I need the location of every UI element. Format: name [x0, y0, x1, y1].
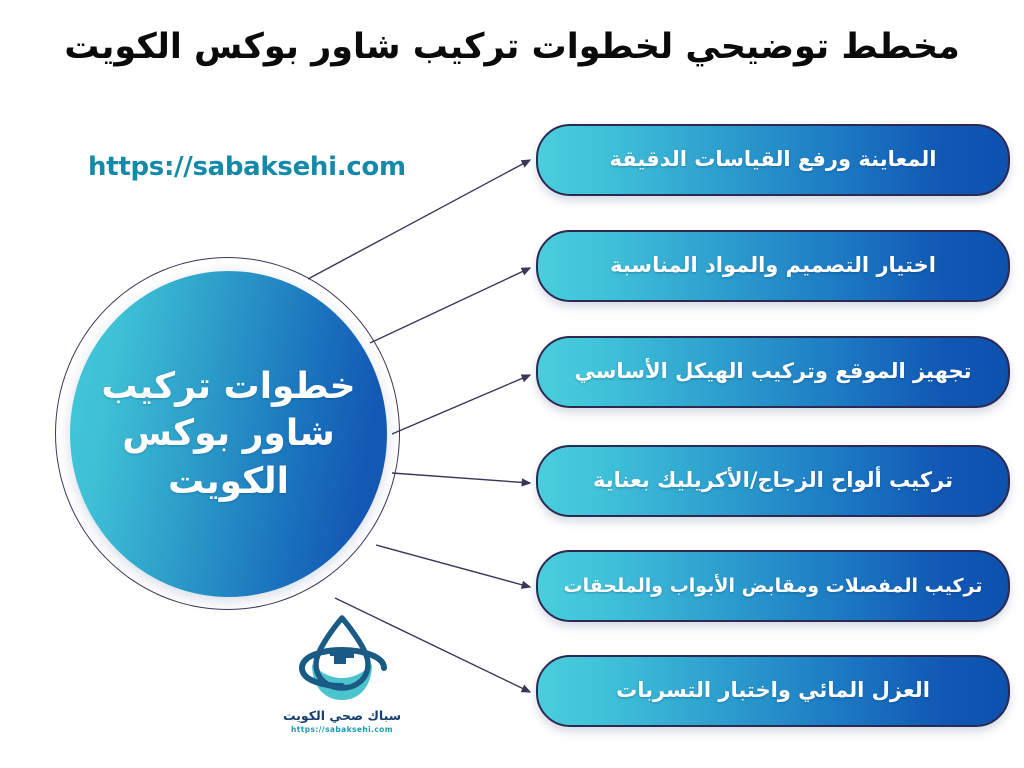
step-box-2[interactable]: اختيار التصميم والمواد المناسبة: [536, 230, 1010, 302]
hub-label: خطوات تركيب شاور بوكس الكويت: [70, 363, 387, 506]
connector-4: [392, 473, 530, 483]
step-label-4: تركيب ألواح الزجاج/الأكريليك بعناية: [577, 468, 969, 493]
water-drop-faucet-icon: [272, 612, 412, 710]
connector-1: [308, 160, 530, 279]
step-box-6[interactable]: العزل المائي واختبار التسربات: [536, 655, 1010, 727]
connector-2: [370, 268, 530, 343]
logo-name: سباك صحي الكويت: [272, 708, 412, 723]
step-label-5: تركيب المفصلات ومقابض الأبواب والملحقات: [548, 575, 999, 598]
step-box-1[interactable]: المعاينة ورفع القياسات الدقيقة: [536, 124, 1010, 196]
connector-5: [376, 545, 530, 587]
connector-3: [392, 375, 530, 434]
infographic-canvas: مخطط توضيحي لخطوات تركيب شاور بوكس الكوي…: [0, 0, 1024, 768]
brand-logo[interactable]: سباك صحي الكويت https://sabaksehi.com: [272, 612, 412, 752]
step-box-4[interactable]: تركيب ألواح الزجاج/الأكريليك بعناية: [536, 445, 1010, 517]
step-label-1: المعاينة ورفع القياسات الدقيقة: [594, 147, 953, 172]
step-box-5[interactable]: تركيب المفصلات ومقابض الأبواب والملحقات: [536, 550, 1010, 622]
step-label-6: العزل المائي واختبار التسربات: [600, 678, 946, 703]
step-box-3[interactable]: تجهيز الموقع وتركيب الهيكل الأساسي: [536, 336, 1010, 408]
hub-circle[interactable]: خطوات تركيب شاور بوكس الكويت: [70, 271, 387, 597]
step-label-2: اختيار التصميم والمواد المناسبة: [594, 253, 952, 278]
step-label-3: تجهيز الموقع وتركيب الهيكل الأساسي: [559, 359, 988, 384]
logo-url: https://sabaksehi.com: [272, 725, 412, 734]
